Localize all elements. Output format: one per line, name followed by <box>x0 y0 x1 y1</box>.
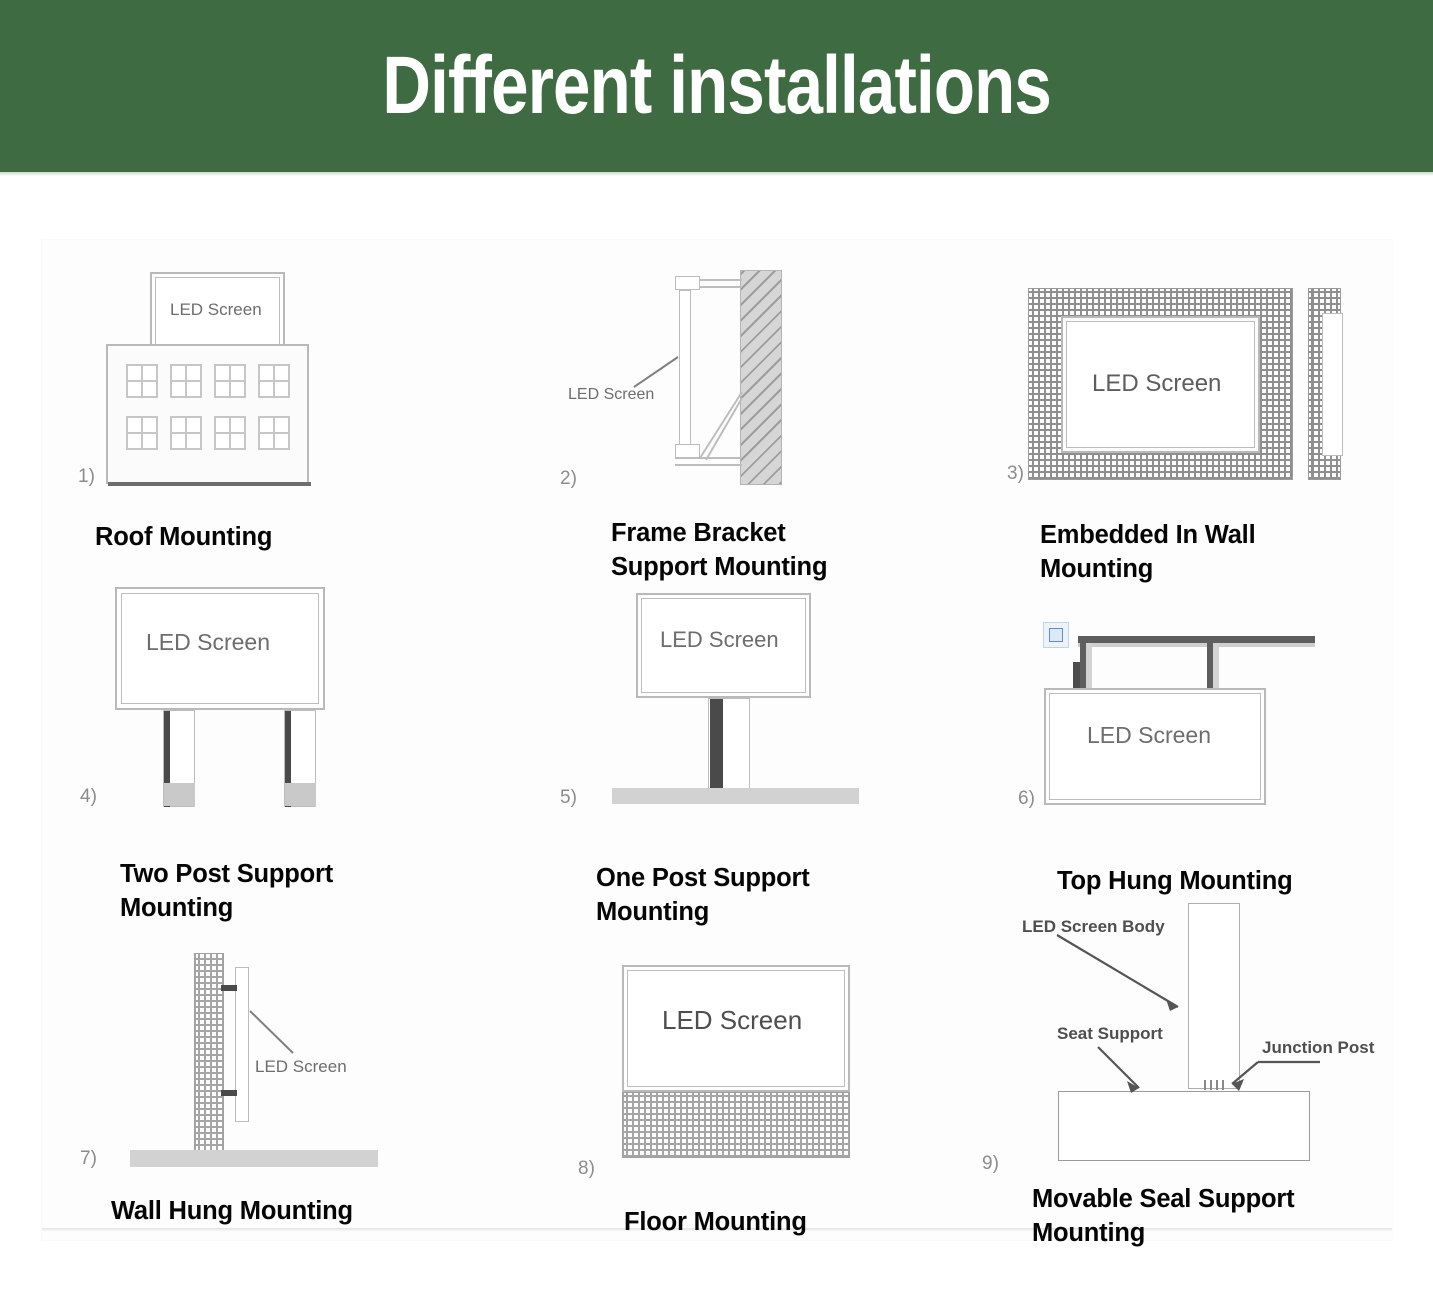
figure-number: 1) <box>78 466 95 488</box>
page-title: Different installations <box>382 45 1051 127</box>
annotation-seat-support: Seat Support <box>1057 1024 1163 1044</box>
building-base-shadow <box>108 482 311 486</box>
figure-caption-top-hung-mounting: Top Hung Mounting <box>1057 865 1292 899</box>
hanger-left-shade <box>1086 643 1092 689</box>
figure-number: 7) <box>80 1148 97 1170</box>
screen-text-label: LED Screen <box>660 627 779 653</box>
figure-number: 9) <box>982 1153 999 1175</box>
support-post-foot <box>285 783 316 806</box>
figure-number: 6) <box>1018 788 1035 810</box>
ground-slab <box>612 788 859 804</box>
annotation-junction-post: Junction Post <box>1262 1038 1374 1058</box>
figure-number: 4) <box>80 786 97 808</box>
screen-text-label: LED Screen <box>255 1057 347 1077</box>
header-banner: Different installations <box>0 0 1433 172</box>
annotation-led-screen-body: LED Screen Body <box>1022 917 1165 937</box>
figure-embedded-in-wall-mounting: LED Screen 3) <box>1020 280 1380 510</box>
figure-number: 2) <box>560 468 577 490</box>
figure-caption-one-post-support-mounting: One Post Support Mounting <box>596 862 810 929</box>
building-window <box>214 364 246 398</box>
building-window <box>170 364 202 398</box>
figure-top-hung-mounting: LED Screen 6) <box>1030 610 1410 830</box>
screen-text-label: LED Screen <box>146 629 270 656</box>
support-post-shade <box>710 699 723 789</box>
screen-text-label: LED Screen <box>170 300 262 320</box>
broken-image-icon <box>1043 622 1069 648</box>
screen-text-label: LED Screen <box>1087 722 1211 749</box>
building-window <box>126 416 158 450</box>
figure-one-post-support-mounting: LED Screen 5) <box>560 585 980 825</box>
figure-wall-hung-mounting: LED Screen 7) <box>80 945 500 1175</box>
building-window <box>258 364 290 398</box>
led-screen-side-panel <box>1322 313 1343 456</box>
header-divider <box>0 172 1433 176</box>
screen-text-label: LED Screen <box>662 1005 802 1036</box>
figure-caption-two-post-support-mounting: Two Post Support Mounting <box>120 858 333 925</box>
figure-number: 8) <box>578 1158 595 1180</box>
screen-text-label: LED Screen <box>568 386 654 404</box>
support-post-foot <box>164 783 195 806</box>
figure-caption-wall-hung-mounting: Wall Hung Mounting <box>111 1195 353 1229</box>
floor-plinth-stipple <box>622 1092 850 1158</box>
figure-caption-movable-seal-support-mounting: Movable Seal Support Mounting <box>1032 1183 1294 1250</box>
figure-roof-mounting: LED Screen 1) <box>78 260 478 560</box>
building-window <box>126 364 158 398</box>
building-window <box>214 416 246 450</box>
figure-caption-floor-mounting: Floor Mounting <box>624 1206 807 1240</box>
figure-caption-embedded-in-wall-mounting: Embedded In Wall Mounting <box>1040 519 1255 586</box>
page-root: Different installations LED Screen 1) Ro… <box>0 0 1433 1300</box>
building-window <box>258 416 290 450</box>
screen-text-label: LED Screen <box>1092 370 1221 398</box>
figure-caption-frame-bracket-mounting: Frame Bracket Support Mounting <box>611 517 827 584</box>
hanger-right-shade <box>1213 643 1219 689</box>
figure-caption-roof-mounting: Roof Mounting <box>95 521 272 555</box>
overhead-beam-shade <box>1078 643 1315 647</box>
figure-movable-seal-support-mounting: LED Screen Body Seat Support Junction Po… <box>1000 895 1410 1175</box>
figure-two-post-support-mounting: LED Screen 4) <box>80 583 480 833</box>
figure-number: 5) <box>560 787 577 809</box>
drop-tab <box>1073 662 1080 690</box>
figure-number: 3) <box>1007 463 1024 485</box>
figure-floor-mounting: LED Screen 8) <box>580 955 980 1185</box>
overhead-beam <box>1078 636 1315 643</box>
building-window <box>170 416 202 450</box>
